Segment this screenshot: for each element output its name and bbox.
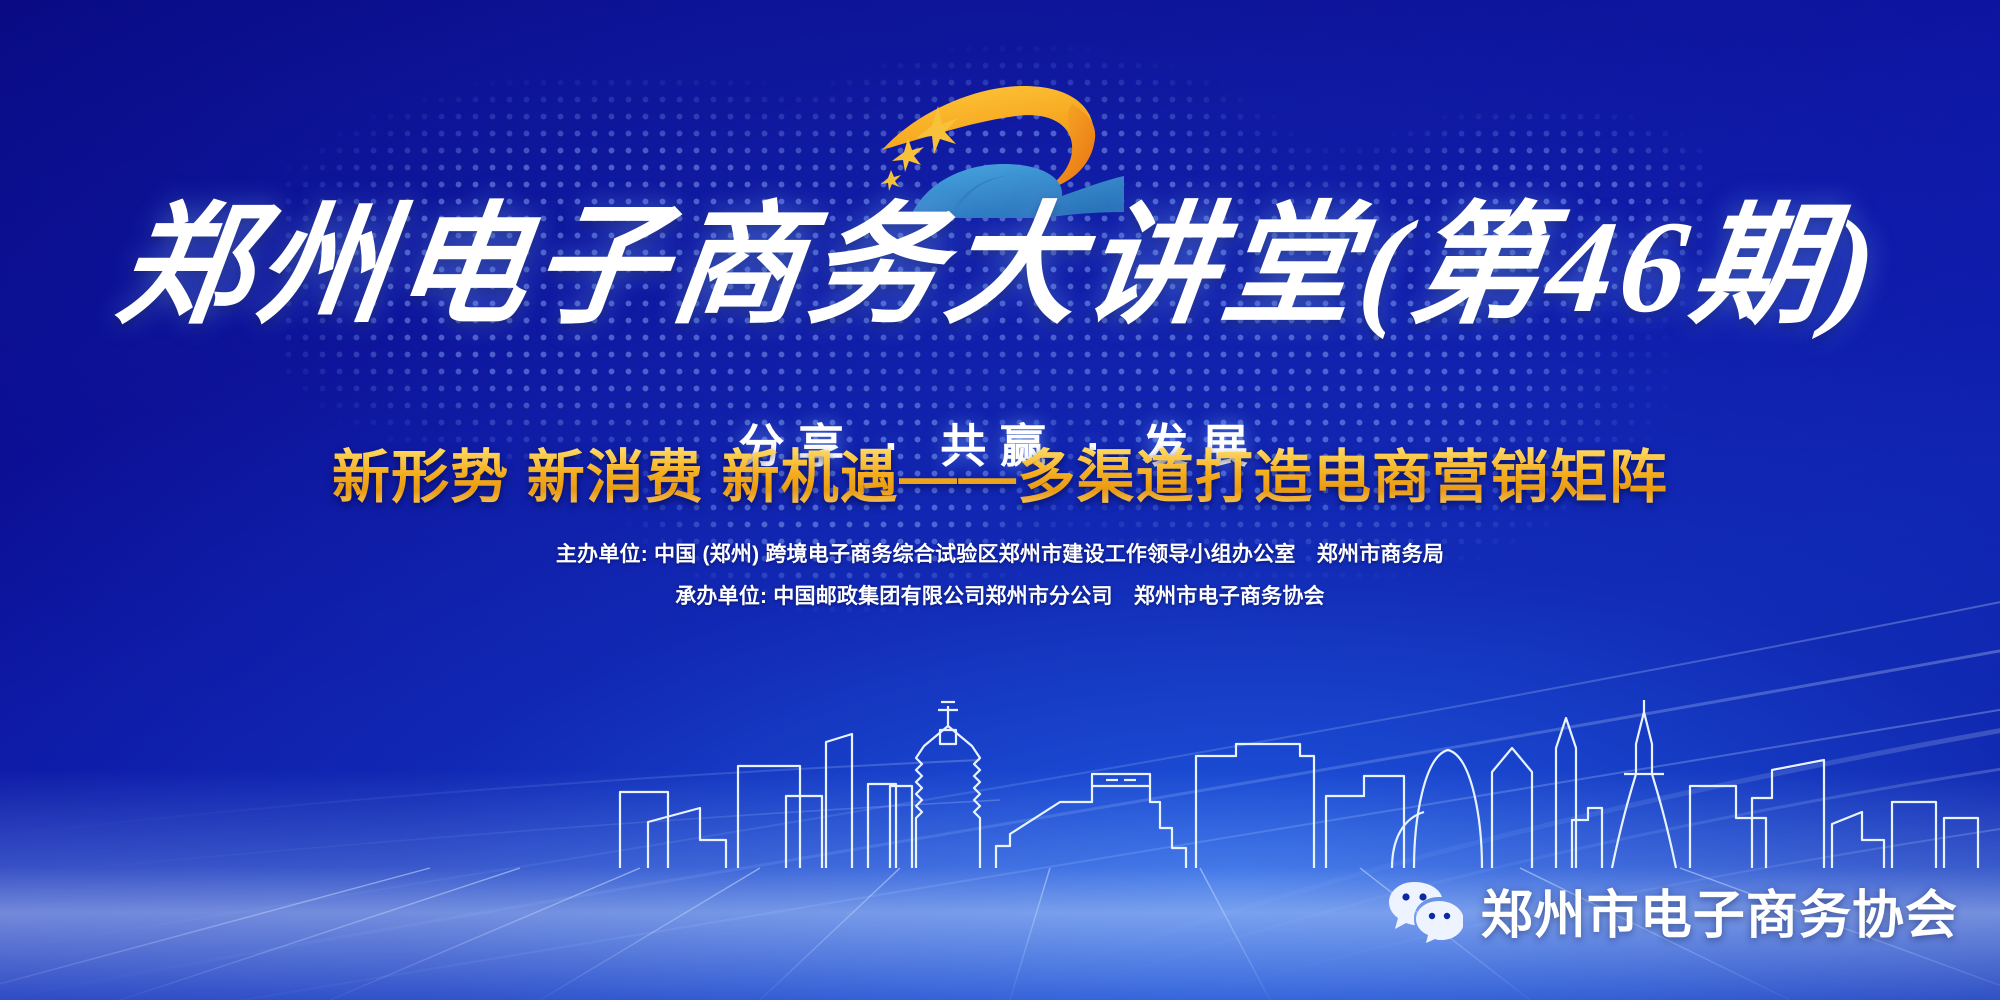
banner-poster: 郑州电子商务大讲堂(第46期) 分享 · 共赢 · 发展 新形势 新消费 新机遇…	[0, 0, 2000, 1000]
city-skyline-illustration	[0, 700, 2000, 1000]
co-organizer-line: 承办单位: 中国邮政集团有限公司郑州市分公司 郑州市电子商务协会	[0, 580, 2000, 610]
headline-topic: 新形势 新消费 新机遇——多渠道打造电商营销矩阵	[0, 430, 2000, 514]
wechat-icon	[1387, 878, 1463, 944]
organizer-line: 主办单位: 中国 (郑州) 跨境电子商务综合试验区郑州市建设工作领导小组办公室 …	[0, 538, 2000, 568]
wechat-account-label: 郑州市电子商务协会	[1481, 873, 1958, 948]
wechat-account-badge[interactable]: 郑州市电子商务协会	[1387, 873, 1958, 948]
page-title: 郑州电子商务大讲堂(第46期)	[0, 196, 2000, 339]
